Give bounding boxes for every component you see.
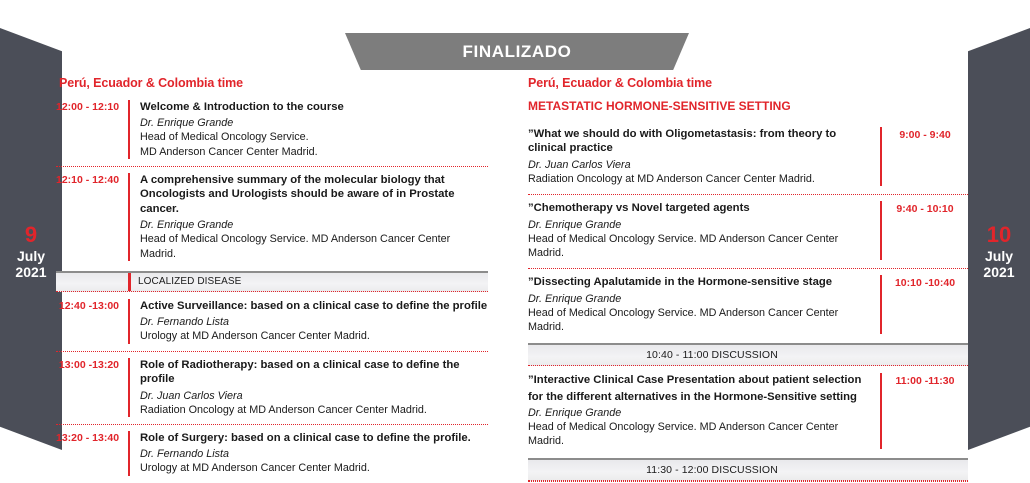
session-body: Role of Radiotherapy: based on a clinica… (128, 358, 488, 417)
session-body: A comprehensive summary of the molecular… (128, 173, 488, 261)
discussion-band: 11:30 - 12:00 DISCUSSION (528, 458, 968, 481)
session-title: ”Dissecting Apalutamide in the Hormone-s… (528, 275, 870, 289)
bottom-dotted-rule (528, 481, 968, 482)
session-body: Active Surveillance: based on a clinical… (128, 299, 488, 344)
discussion-band: 10:40 - 11:00 DISCUSSION (528, 343, 968, 366)
date-left-month: July (0, 249, 62, 265)
section-band-localized-disease: LOCALIZED DISEASE (56, 271, 488, 292)
date-panel-right-inner: 10 July 2021 (968, 223, 1030, 281)
session-time: 12:10 - 12:40 (56, 173, 128, 261)
session-time: 10:10 -10:40 (880, 275, 968, 334)
session-speaker: Dr. Juan Carlos Viera (140, 389, 488, 403)
section-band-label: LOCALIZED DISEASE (138, 276, 241, 287)
discussion-band-label: 11:30 - 12:00 DISCUSSION (528, 464, 968, 476)
session-body: Role of Surgery: based on a clinical cas… (128, 431, 488, 476)
session-row[interactable]: 13:00 -13:20 Role of Radiotherapy: based… (56, 351, 488, 424)
session-title: Role of Surgery: based on a clinical cas… (140, 431, 488, 445)
session-speaker: Dr. Enrique Grande (140, 218, 488, 232)
session-row[interactable]: 13:20 - 13:40 Role of Surgery: based on … (56, 424, 488, 483)
session-speaker: Dr. Enrique Grande (528, 218, 870, 232)
session-affiliation: Head of Medical Oncology Service. MD And… (528, 232, 870, 261)
session-body: Welcome & Introduction to the course Dr.… (128, 100, 488, 159)
session-speaker: Dr. Enrique Grande (528, 406, 870, 420)
session-speaker: Dr. Juan Carlos Viera (528, 158, 870, 172)
session-time: 12:40 -13:00 (56, 299, 128, 344)
session-body: ”What we should do with Oligometastasis:… (528, 127, 880, 186)
session-title: ”Chemotherapy vs Novel targeted agents (528, 201, 870, 215)
session-time: 12:00 - 12:10 (56, 100, 128, 159)
session-row[interactable]: 12:00 - 12:10 Welcome & Introduction to … (56, 93, 488, 166)
date-right-year: 2021 (968, 265, 1030, 281)
session-affiliation: Urology at MD Anderson Cancer Center Mad… (140, 461, 488, 475)
agenda-column-day-10: Perú, Ecuador & Colombia time METASTATIC… (528, 76, 968, 482)
session-title-cont: for the different alternatives in the Ho… (528, 390, 870, 404)
session-affiliation: Urology at MD Anderson Cancer Center Mad… (140, 329, 488, 343)
session-affiliation: Radiation Oncology at MD Anderson Cancer… (528, 172, 870, 186)
timezone-title-left: Perú, Ecuador & Colombia time (56, 76, 488, 90)
session-time: 13:00 -13:20 (56, 358, 128, 417)
agenda-column-day-9: Perú, Ecuador & Colombia time 12:00 - 12… (56, 76, 488, 483)
date-left-day: 9 (0, 223, 62, 248)
session-time: 11:00 -11:30 (880, 373, 968, 448)
session-affiliation: Head of Medical Oncology Service. (140, 130, 488, 144)
session-row[interactable]: 12:10 - 12:40 A comprehensive summary of… (56, 166, 488, 268)
session-title: ”Interactive Clinical Case Presentation … (528, 373, 870, 387)
session-body: ”Dissecting Apalutamide in the Hormone-s… (528, 275, 880, 334)
date-panel-left: 9 July 2021 (0, 28, 62, 450)
session-row[interactable]: ”Chemotherapy vs Novel targeted agents D… (528, 194, 968, 268)
session-time: 9:00 - 9:40 (880, 127, 968, 186)
timezone-title-right: Perú, Ecuador & Colombia time (528, 76, 968, 90)
session-row[interactable]: ”Dissecting Apalutamide in the Hormone-s… (528, 268, 968, 342)
session-body: ”Interactive Clinical Case Presentation … (528, 373, 880, 448)
band-red-tick (128, 273, 131, 291)
session-body: ”Chemotherapy vs Novel targeted agents D… (528, 201, 880, 260)
session-speaker: Dr. Enrique Grande (140, 116, 488, 130)
session-affiliation: Head of Medical Oncology Service. MD And… (140, 232, 488, 261)
session-title: A comprehensive summary of the molecular… (140, 173, 488, 216)
date-panel-right: 10 July 2021 (968, 28, 1030, 450)
session-title: ”What we should do with Oligometastasis:… (528, 127, 870, 156)
session-title: Role of Radiotherapy: based on a clinica… (140, 358, 488, 387)
session-affiliation: Head of Medical Oncology Service. MD And… (528, 306, 870, 335)
session-row[interactable]: ”Interactive Clinical Case Presentation … (528, 366, 968, 456)
section-title-metastatic: METASTATIC HORMONE-SENSITIVE SETTING (528, 99, 968, 113)
session-title: Active Surveillance: based on a clinical… (140, 299, 488, 313)
session-time: 9:40 - 10:10 (880, 201, 968, 260)
session-affiliation: MD Anderson Cancer Center Madrid. (140, 145, 488, 159)
session-title: Welcome & Introduction to the course (140, 100, 488, 114)
status-badge-label: FINALIZADO (463, 42, 572, 62)
session-speaker: Dr. Fernando Lista (140, 315, 488, 329)
date-left-year: 2021 (0, 265, 62, 281)
session-affiliation: Head of Medical Oncology Service. MD And… (528, 420, 870, 449)
status-badge-finalizado: FINALIZADO (345, 33, 689, 70)
session-affiliation: Radiation Oncology at MD Anderson Cancer… (140, 403, 488, 417)
session-time: 13:20 - 13:40 (56, 431, 128, 476)
session-speaker: Dr. Fernando Lista (140, 447, 488, 461)
date-panel-left-inner: 9 July 2021 (0, 223, 62, 281)
discussion-band-label: 10:40 - 11:00 DISCUSSION (528, 349, 968, 361)
session-row[interactable]: ”What we should do with Oligometastasis:… (528, 120, 968, 194)
agenda-stage: 9 July 2021 10 July 2021 FINALIZADO Perú… (0, 0, 1030, 450)
session-speaker: Dr. Enrique Grande (528, 292, 870, 306)
date-right-month: July (968, 249, 1030, 265)
session-row[interactable]: 12:40 -13:00 Active Surveillance: based … (56, 292, 488, 351)
date-right-day: 10 (968, 223, 1030, 248)
